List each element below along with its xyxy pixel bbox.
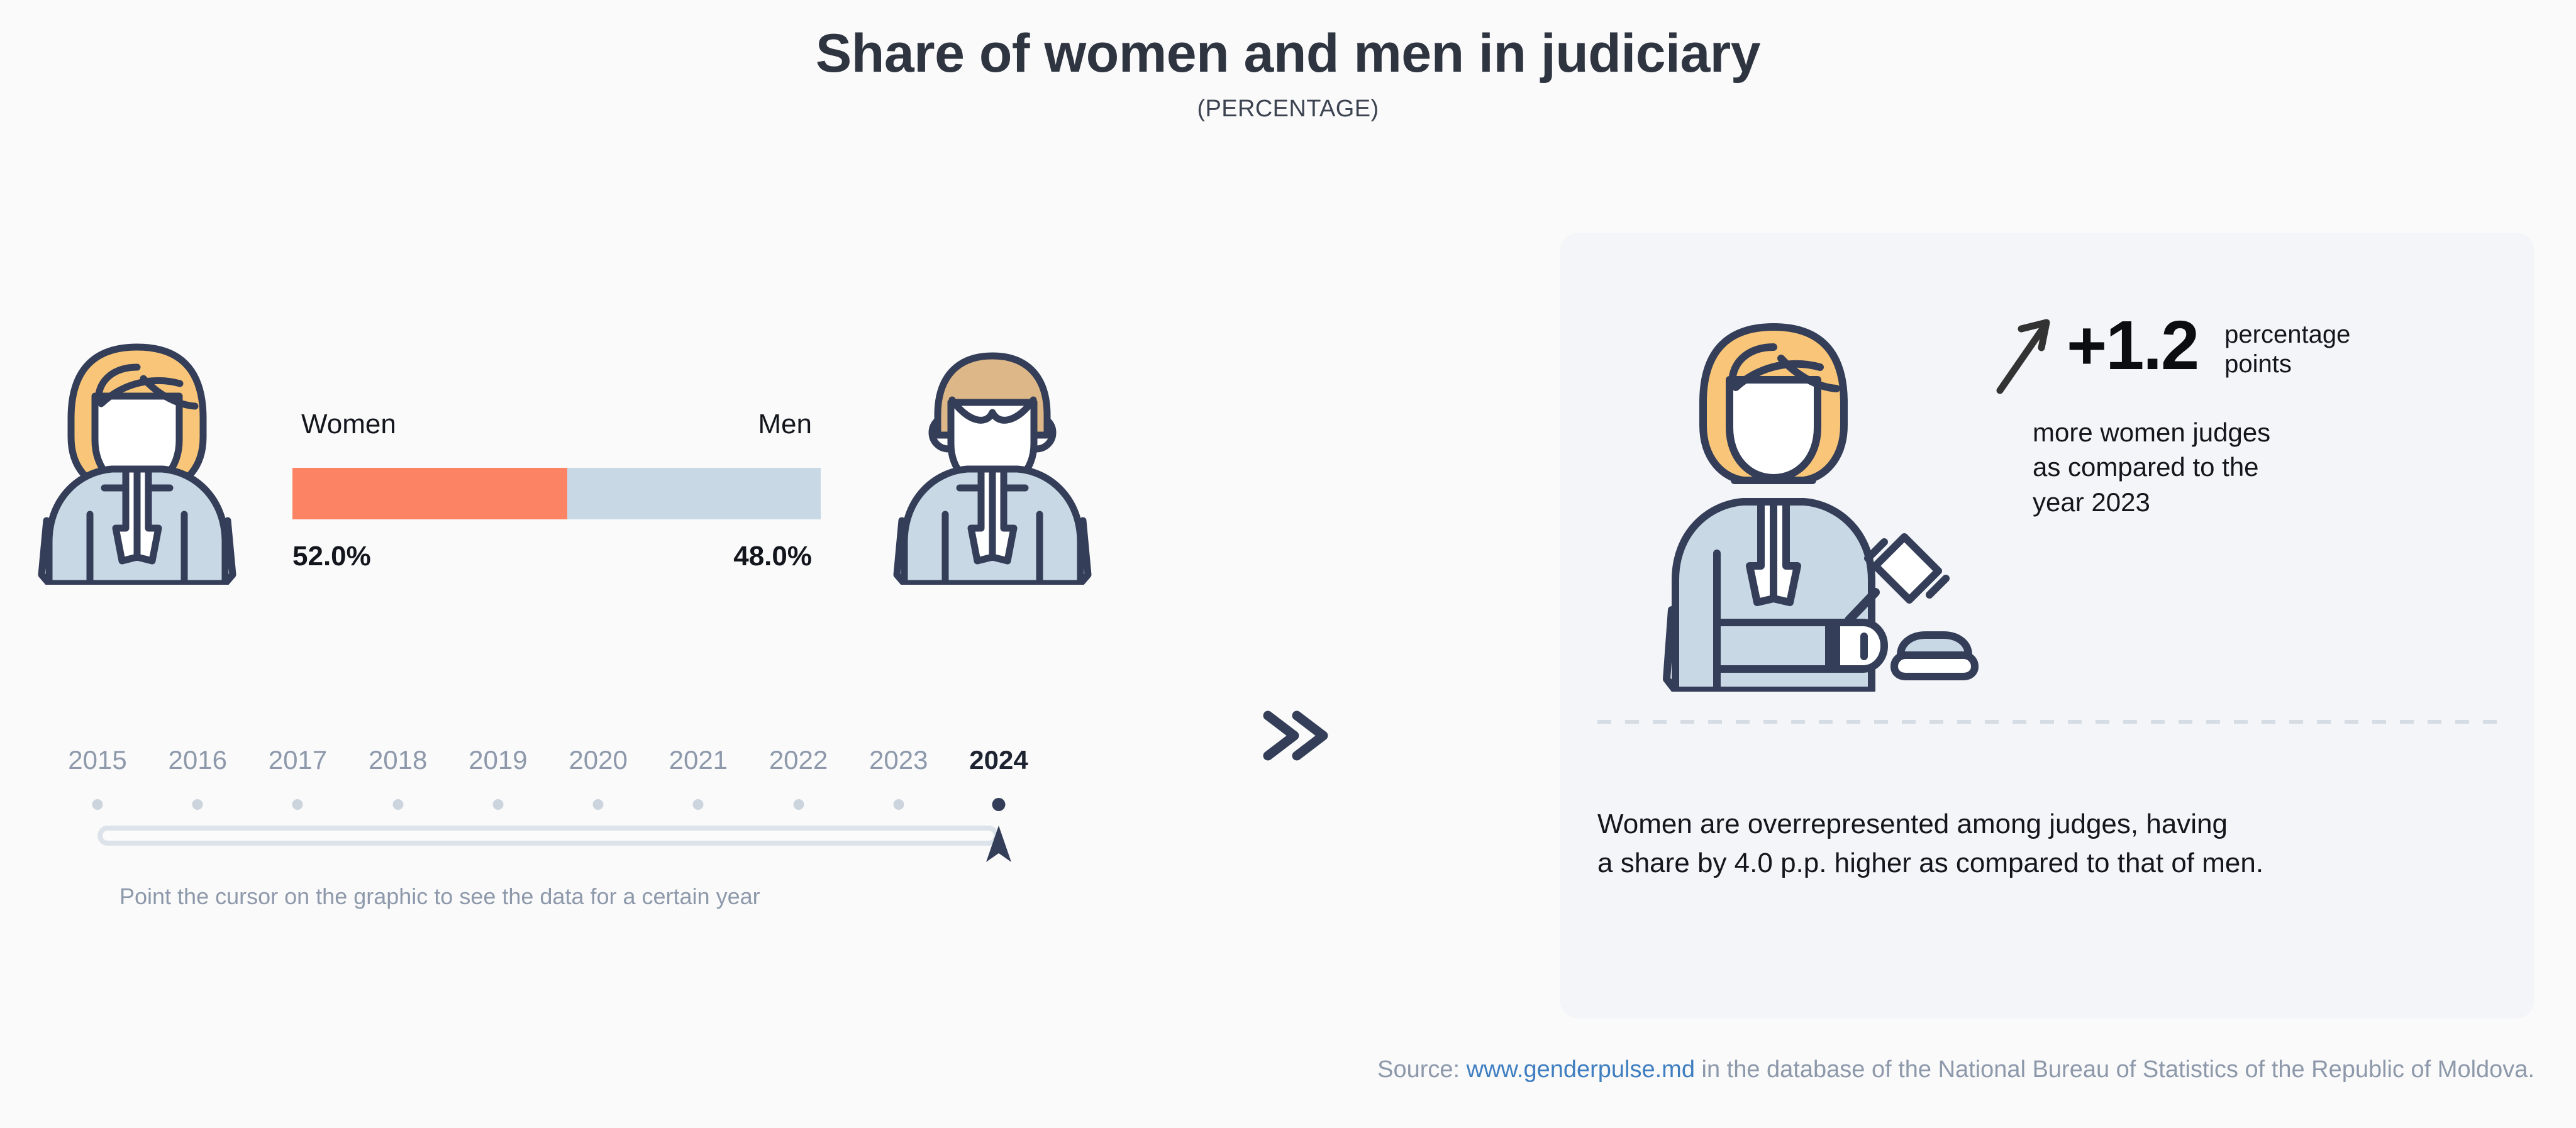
insight-panel: +1.2 percentage points more women judges… — [1560, 233, 2534, 1019]
metric-description: more women judges as compared to the yea… — [2033, 415, 2270, 519]
metric-desc-line3: year 2023 — [2033, 487, 2150, 517]
woman-judge-with-gavel-icon — [1654, 302, 1981, 695]
metric-desc-line1: more women judges — [2033, 417, 2270, 447]
source-link[interactable]: www.genderpulse.md — [1467, 1056, 1695, 1083]
timeline-dot-2018[interactable] — [392, 799, 403, 810]
timeline-dot-2023[interactable] — [893, 799, 904, 810]
timeline-slider-handle[interactable] — [981, 823, 1016, 871]
infographic-page: Share of women and men in judiciary (PER… — [0, 0, 2576, 1128]
panel-note: Women are overrepresented among judges, … — [1597, 805, 2503, 883]
timeline-year-2021[interactable]: 2021 — [669, 745, 728, 775]
trend-up-arrow-icon — [1994, 314, 2057, 399]
timeline-year-2015[interactable]: 2015 — [68, 745, 126, 775]
panel-divider — [1597, 720, 2497, 724]
source-footer: Source: www.genderpulse.md in the databa… — [0, 1056, 2534, 1083]
bar-label-men: Men — [758, 409, 812, 440]
timeline-year-2018[interactable]: 2018 — [369, 745, 427, 775]
timeline-dot-2017[interactable] — [292, 799, 303, 810]
timeline-track-inner — [103, 831, 994, 841]
timeline-dot-2021[interactable] — [693, 799, 704, 810]
man-judge-avatar-icon — [885, 321, 1099, 588]
stacked-bar[interactable] — [292, 468, 821, 519]
timeline-track[interactable] — [97, 826, 999, 846]
metric-desc-line2: as compared to the — [2033, 452, 2259, 482]
header: Share of women and men in judiciary (PER… — [0, 25, 2576, 123]
bar-label-women: Women — [301, 409, 396, 440]
bar-value-men: 48.0% — [733, 541, 812, 572]
bar-segment-women[interactable] — [292, 468, 567, 519]
metric-unit: percentage points — [2224, 320, 2350, 379]
timeline-year-2020[interactable]: 2020 — [569, 745, 627, 775]
timeline-hint-text: Point the cursor on the graphic to see t… — [119, 883, 1019, 910]
bar-series-labels: Women Men — [292, 409, 821, 444]
timeline-dot-2016[interactable] — [192, 799, 203, 810]
timeline-year-dots[interactable] — [75, 794, 1019, 819]
timeline-year-2024[interactable]: 2024 — [969, 745, 1028, 775]
timeline-dot-2020[interactable] — [593, 799, 604, 810]
timeline-track-wrap[interactable] — [75, 822, 1019, 856]
timeline-year-labels: 2015201620172018201920202021202220232024 — [75, 745, 1019, 784]
double-chevron-right-icon — [1258, 704, 1333, 770]
panel-note-line2: a share by 4.0 p.p. higher as compared t… — [1597, 848, 2263, 878]
source-prefix: Source: — [1377, 1056, 1467, 1083]
share-bar-chart: Women Men 52.0% 48.0% — [292, 409, 821, 576]
metric-block: +1.2 percentage points — [1994, 311, 2350, 399]
page-title: Share of women and men in judiciary — [0, 25, 2576, 82]
page-subtitle: (PERCENTAGE) — [0, 96, 2576, 123]
source-suffix: in the database of the National Bureau o… — [1695, 1056, 2534, 1083]
bar-value-women: 52.0% — [292, 541, 371, 572]
metric-unit-line2: points — [2224, 350, 2292, 378]
timeline-dot-2019[interactable] — [492, 799, 503, 810]
metric-value: +1.2 — [2067, 311, 2198, 380]
timeline-year-2019[interactable]: 2019 — [469, 745, 527, 775]
timeline-year-2016[interactable]: 2016 — [169, 745, 227, 775]
year-timeline-slider[interactable]: 2015201620172018201920202021202220232024… — [75, 745, 1019, 910]
timeline-dot-2015[interactable] — [92, 799, 103, 810]
woman-judge-avatar-icon — [30, 321, 244, 588]
bar-segment-men[interactable] — [567, 468, 821, 519]
timeline-dot-2024[interactable] — [992, 798, 1006, 811]
bar-value-labels: 52.0% 48.0% — [292, 541, 821, 576]
metric-unit-line1: percentage — [2224, 321, 2350, 348]
timeline-year-2023[interactable]: 2023 — [869, 745, 928, 775]
timeline-year-2022[interactable]: 2022 — [769, 745, 828, 775]
timeline-year-2017[interactable]: 2017 — [269, 745, 327, 775]
timeline-dot-2022[interactable] — [793, 799, 804, 810]
panel-note-line1: Women are overrepresented among judges, … — [1597, 809, 2228, 839]
